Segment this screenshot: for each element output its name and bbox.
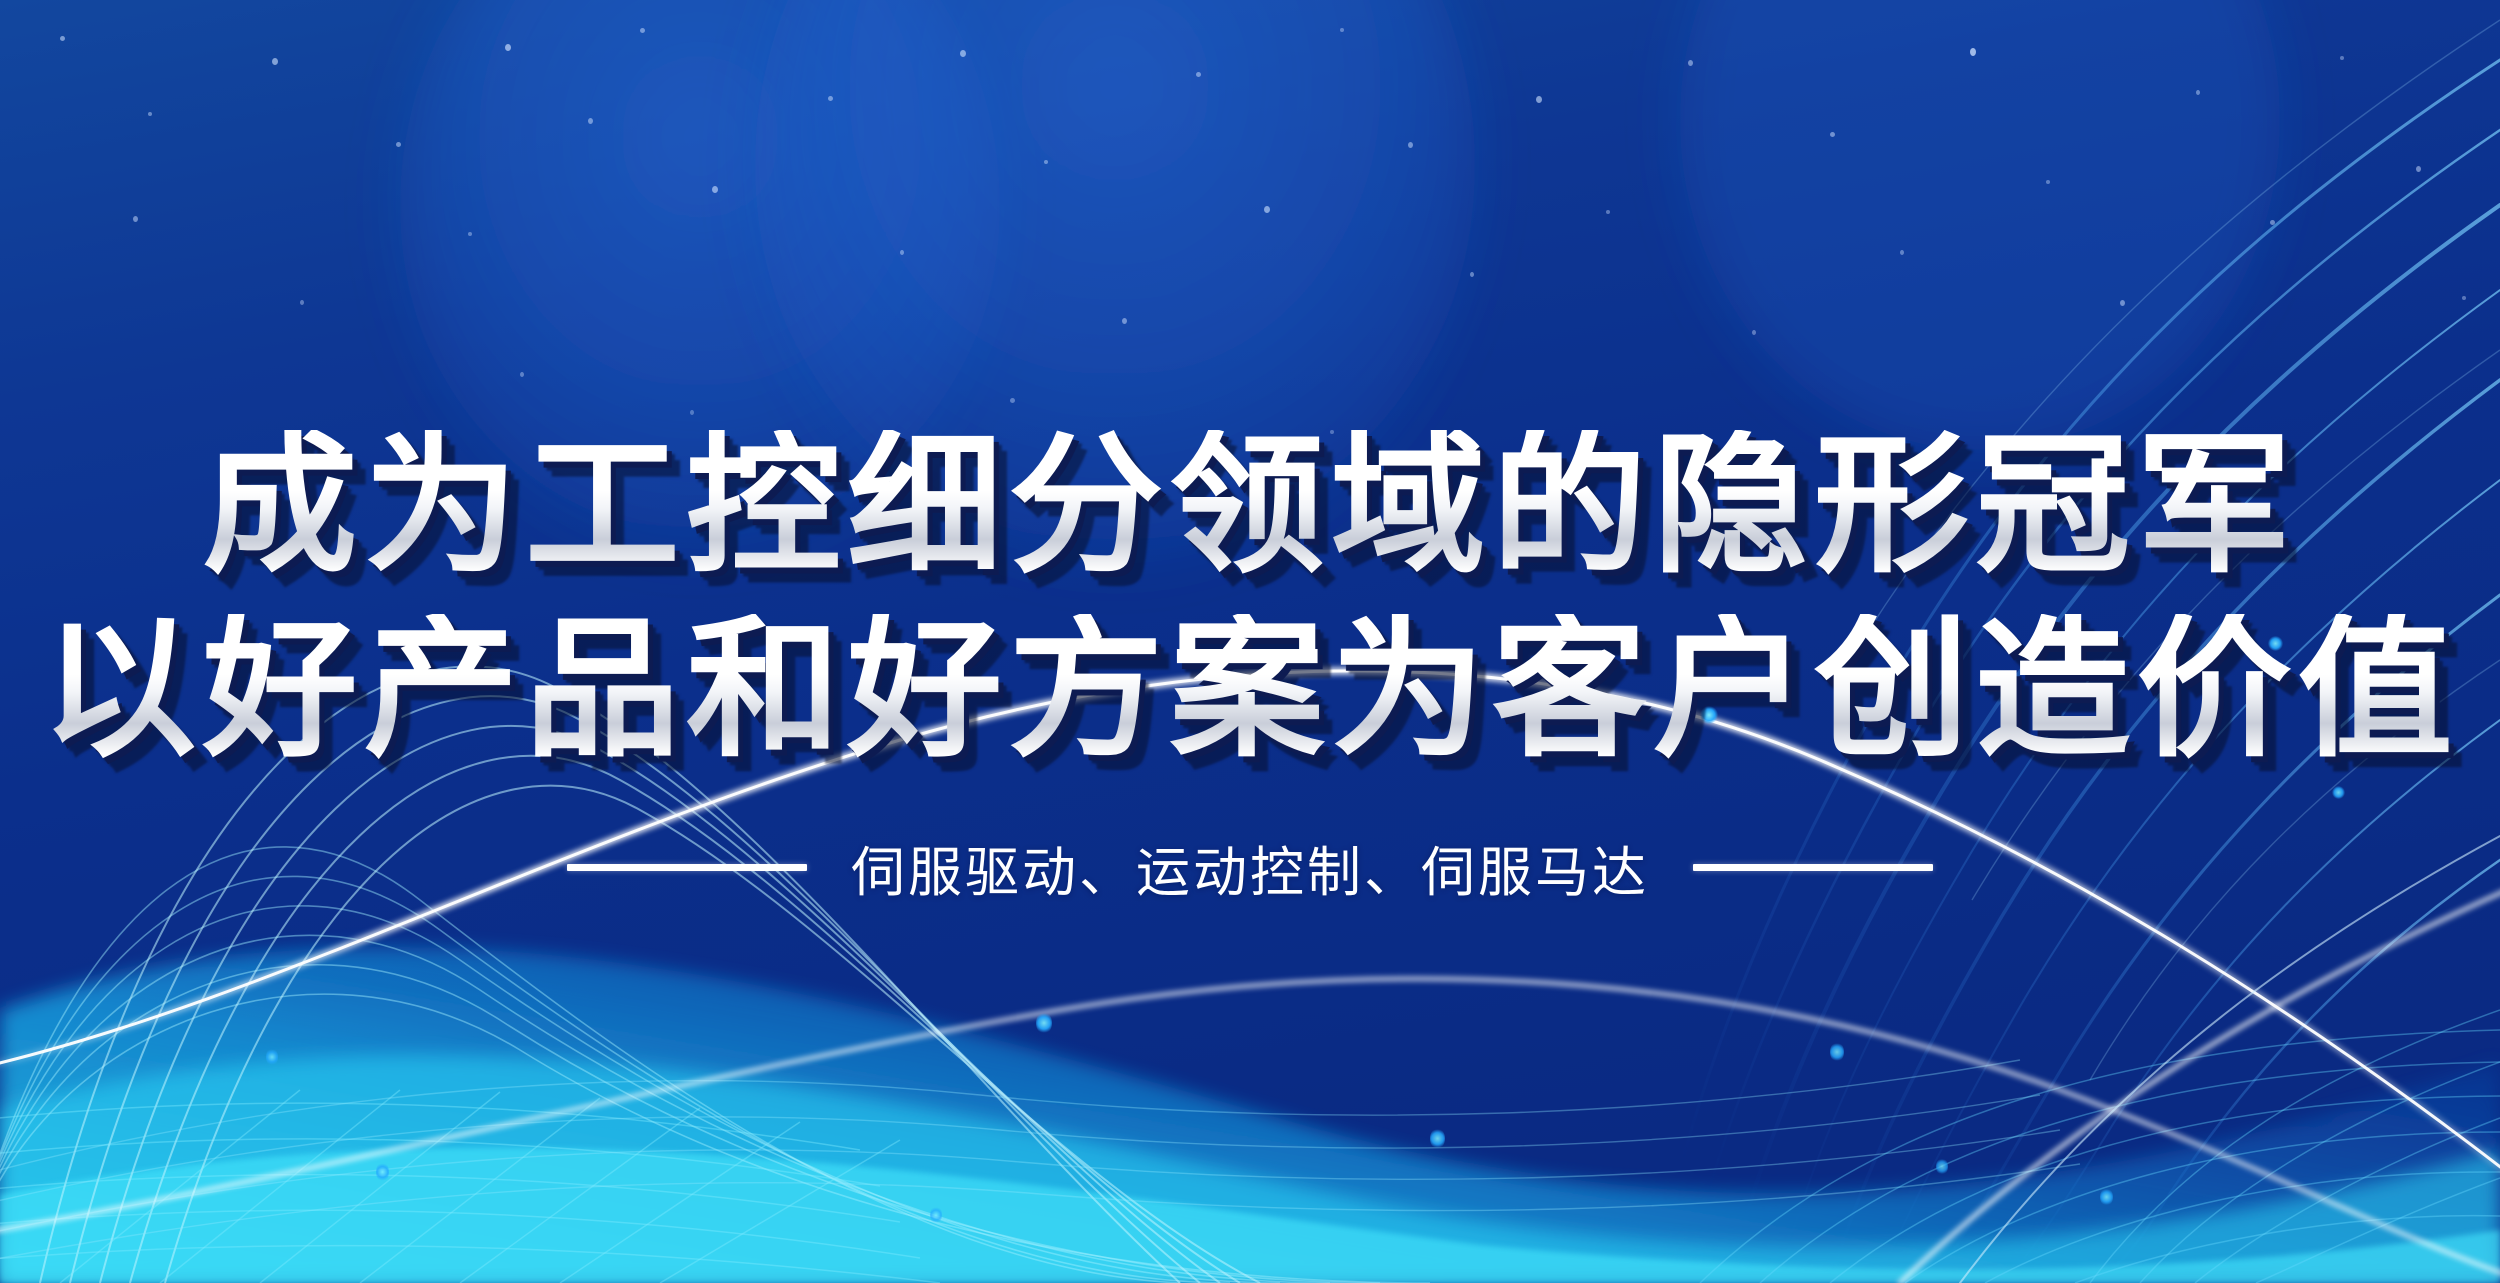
- divider-line-left: [567, 864, 807, 871]
- banner-content: 成为工控细分领域的隐形冠军 以好产品和好方案为客户创造价值 伺服驱动、运动控制、…: [0, 0, 2500, 1283]
- subtitle-row: 伺服驱动、运动控制、伺服马达: [567, 828, 1933, 907]
- divider-line-right: [1693, 864, 1933, 871]
- headline-primary: 成为工控细分领域的隐形冠军: [202, 430, 2297, 582]
- subtitle-text: 伺服驱动、运动控制、伺服马达: [851, 828, 1649, 907]
- banner-stage: 成为工控细分领域的隐形冠军 以好产品和好方案为客户创造价值 伺服驱动、运动控制、…: [0, 0, 2500, 1283]
- headline-secondary: 以好产品和好方案为客户创造价值: [41, 614, 2458, 766]
